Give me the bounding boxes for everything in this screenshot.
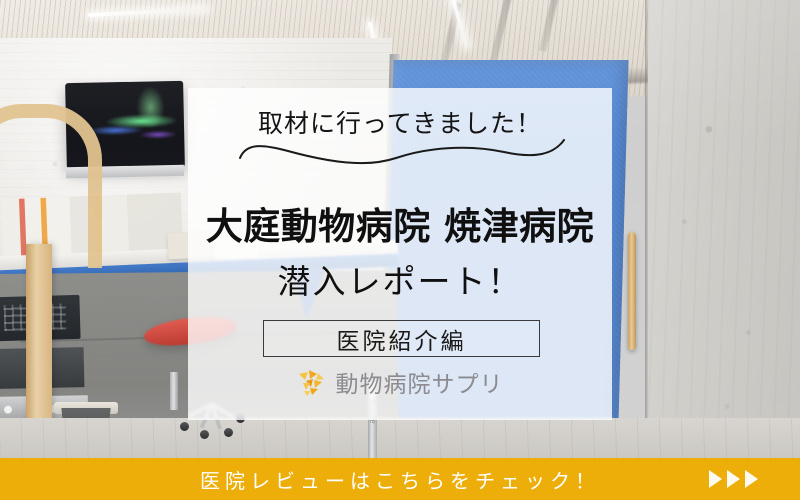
- badge-label: 医院紹介編: [337, 322, 467, 356]
- chevron-right-icon: [709, 470, 722, 488]
- chair-caster: [200, 430, 209, 439]
- cta-banner[interactable]: 医院レビューはこちらをチェック！: [0, 458, 800, 500]
- chevron-right-icon: [745, 470, 758, 488]
- cta-arrows: [709, 470, 758, 488]
- brand-name: 動物病院サプリ: [336, 365, 504, 399]
- chair-caster: [180, 422, 189, 431]
- page-subtitle: 潜入レポート！: [180, 255, 620, 303]
- decorative-flourish-icon: [236, 138, 568, 174]
- promo-banner-image: Butte 取材に行ってきました！ 大庭動物病院 焼津病院 潜入レポート！ 医院…: [0, 0, 800, 500]
- cta-label: 医院レビューはこちらをチェック！: [200, 465, 600, 494]
- chair-caster: [224, 428, 233, 437]
- pinwheel-logo-mark-icon: [297, 367, 327, 397]
- status-badge: 医院紹介編: [263, 320, 540, 357]
- brand-logo: 動物病院サプリ: [188, 366, 612, 398]
- chevron-right-icon: [727, 470, 740, 488]
- right-concrete-wall: [648, 0, 800, 462]
- wooden-door-handle: [628, 232, 636, 350]
- kicker-text: 取材に行ってきました！: [188, 104, 612, 140]
- page-title: 大庭動物病院 焼津病院: [180, 196, 620, 250]
